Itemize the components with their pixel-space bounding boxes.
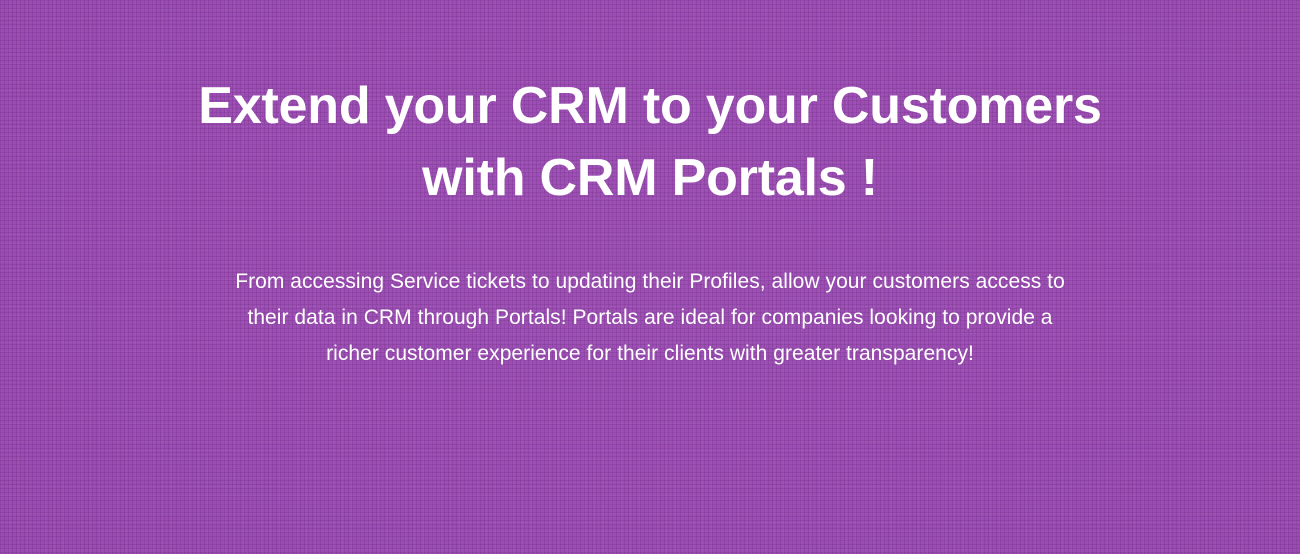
hero-banner: Extend your CRM to your Customers with C…	[0, 0, 1300, 554]
hero-subtext: From accessing Service tickets to updati…	[220, 264, 1080, 372]
hero-heading-line-1: Extend your CRM to your Customers	[100, 70, 1200, 142]
hero-content: Extend your CRM to your Customers with C…	[0, 0, 1300, 554]
hero-subtext-line-3: richer customer experience for their cli…	[220, 336, 1080, 372]
hero-subtext-line-1: From accessing Service tickets to updati…	[220, 264, 1080, 300]
hero-subtext-line-2: their data in CRM through Portals! Porta…	[220, 300, 1080, 336]
hero-heading-line-2: with CRM Portals !	[100, 142, 1200, 214]
heading-subtext-spacer	[0, 214, 1300, 264]
hero-heading: Extend your CRM to your Customers with C…	[0, 70, 1300, 214]
